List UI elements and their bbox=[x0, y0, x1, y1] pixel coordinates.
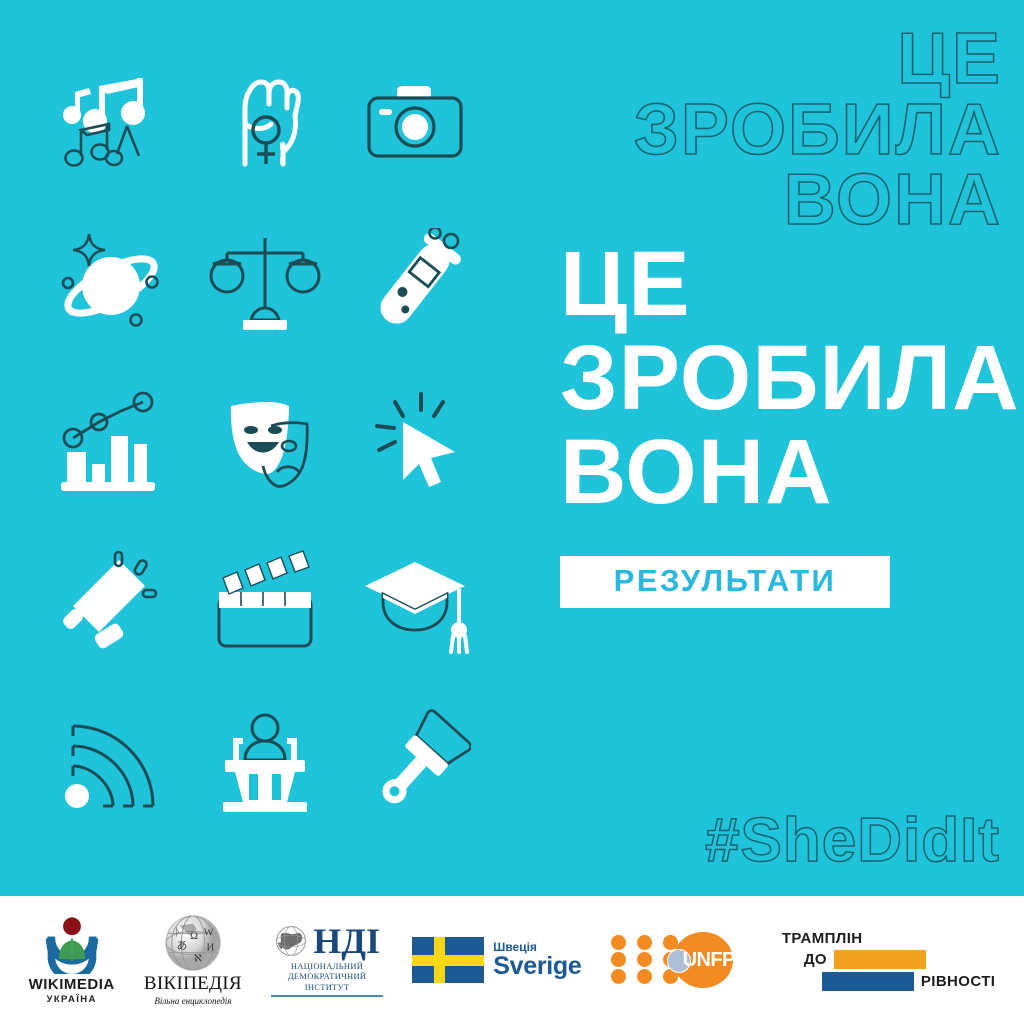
music-notes-icon bbox=[55, 64, 175, 184]
theater-masks-icon bbox=[205, 384, 325, 504]
trampline-row3: РІВНОСТІ bbox=[780, 972, 996, 991]
ghost-headline-line3: ВОНА bbox=[634, 165, 1002, 236]
justice-scales-icon bbox=[205, 224, 325, 344]
sweden-text-block: Швеція Sverige bbox=[493, 941, 581, 979]
sweden-flag-horizontal-bar bbox=[412, 955, 484, 966]
trampline-line2: ДО bbox=[804, 951, 827, 968]
main-headline: ЦЕ ЗРОБИЛА ВОНА bbox=[560, 238, 1020, 519]
svg-text:ᚦ: ᚦ bbox=[175, 926, 181, 938]
logo-trampline-to-equality: ТРАМПЛІН ДО РІВНОСТІ bbox=[780, 930, 996, 991]
sponsor-logo-bar: WIKIMEDIA УКРАЇНА bbox=[0, 896, 1024, 1024]
sweden-row: Швеція Sverige bbox=[412, 937, 581, 983]
unfpa-dot bbox=[637, 935, 652, 950]
wikipedia-subtitle: Вільна енциклопедія bbox=[154, 996, 231, 1006]
logo-ndi: НДІ НАЦІОНАЛЬНИЙ ДЕМОКРАТИЧНИЙ ІНСТИТУТ bbox=[271, 923, 383, 997]
ghost-headline: ЦЕ ЗРОБИЛА ВОНА bbox=[634, 24, 1002, 236]
headline-line2: ЗРОБИЛА bbox=[560, 332, 1020, 426]
sweden-name-sv: Sverige bbox=[493, 953, 581, 979]
ndi-abbr: НДІ bbox=[313, 923, 380, 959]
bar-chart-icon bbox=[55, 384, 175, 504]
planet-saturn-icon bbox=[55, 224, 175, 344]
trampline-orange-bar bbox=[834, 950, 926, 969]
logo-unfpa: UNFPA bbox=[611, 929, 751, 991]
logo-sweden: Швеція Sverige bbox=[412, 937, 581, 983]
unfpa-dot bbox=[637, 952, 652, 967]
ndi-subtitle-line2: ДЕМОКРАТИЧНИЙ bbox=[288, 971, 367, 981]
wikimedia-mark-icon bbox=[42, 916, 102, 974]
podium-speaker-icon bbox=[205, 704, 325, 824]
wikimedia-subtitle: УКРАЇНА bbox=[47, 994, 97, 1005]
unfpa-abbr: UNFPA bbox=[683, 949, 747, 972]
trampline-stack: ТРАМПЛІН ДО РІВНОСТІ bbox=[780, 930, 996, 991]
wikipedia-globe-icon: Ω W И あ ᚦ ℵ bbox=[164, 914, 222, 972]
unfpa-dot bbox=[611, 969, 626, 984]
ghost-headline-line2: ЗРОБИЛА bbox=[634, 95, 1002, 166]
camera-icon bbox=[355, 64, 475, 184]
unfpa-dot bbox=[637, 969, 652, 984]
results-badge: РЕЗУЛЬТАТИ bbox=[560, 556, 890, 608]
ghost-headline-line1: ЦЕ bbox=[634, 24, 1002, 95]
trampline-line1: ТРАМПЛІН bbox=[780, 930, 996, 947]
ndi-divider bbox=[271, 995, 383, 997]
svg-text:W: W bbox=[204, 927, 214, 938]
ndi-subtitle-line1: НАЦІОНАЛЬНИЙ bbox=[288, 961, 367, 971]
ndi-globe-icon bbox=[274, 924, 308, 958]
headline-line3: ВОНА bbox=[560, 426, 1020, 520]
wifi-signal-icon bbox=[55, 704, 175, 824]
sweden-flag-icon bbox=[412, 937, 484, 983]
wikipedia-name: ВІКІПЕДІЯ bbox=[144, 973, 242, 995]
logo-wikipedia: Ω W И あ ᚦ ℵ ВІКІПЕДІЯ Вільна енциклопеді… bbox=[144, 914, 242, 1006]
unfpa-dot bbox=[611, 935, 626, 950]
logo-wikimedia-ukraine: WIKIMEDIA УКРАЇНА bbox=[29, 916, 115, 1005]
trampline-row2: ДО bbox=[780, 950, 996, 969]
graduation-cap-icon bbox=[355, 544, 475, 664]
unfpa-dot bbox=[611, 952, 626, 967]
megaphone-icon bbox=[55, 544, 175, 664]
feminist-fist-icon bbox=[205, 64, 325, 184]
ndi-subtitle: НАЦІОНАЛЬНИЙ ДЕМОКРАТИЧНИЙ ІНСТИТУТ bbox=[288, 961, 367, 992]
ndi-subtitle-line3: ІНСТИТУТ bbox=[288, 982, 367, 992]
poster-canvas: ЦЕ ЗРОБИЛА ВОНА ЦЕ ЗРОБИЛА ВОНА РЕЗУЛЬТА… bbox=[0, 0, 1024, 1024]
clapperboard-icon bbox=[205, 544, 325, 664]
svg-text:あ: あ bbox=[176, 940, 187, 952]
svg-text:ℵ: ℵ bbox=[194, 952, 202, 964]
cursor-click-icon bbox=[355, 384, 475, 504]
test-tube-icon bbox=[355, 224, 475, 344]
trampline-blue-bar bbox=[822, 972, 914, 991]
wikimedia-name: WIKIMEDIA bbox=[29, 976, 115, 993]
trampline-line3: РІВНОСТІ bbox=[921, 973, 996, 990]
icon-grid bbox=[40, 44, 490, 844]
paintbrush-icon bbox=[355, 704, 475, 824]
hashtag-shedidit: #SheDidIt bbox=[705, 805, 1000, 876]
headline-line1: ЦЕ bbox=[560, 238, 1020, 332]
svg-text:И: И bbox=[206, 943, 214, 954]
unfpa-mark: UNFPA bbox=[611, 929, 751, 991]
ndi-row: НДІ bbox=[274, 923, 380, 959]
